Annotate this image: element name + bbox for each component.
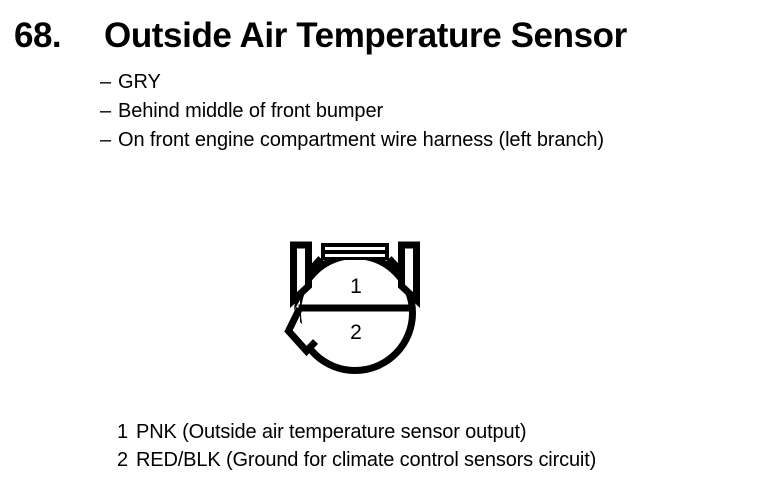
spec-list-item: – On front engine compartment wire harne… bbox=[100, 126, 760, 155]
right-side-post bbox=[402, 245, 417, 300]
legend-row: 1 PNK (Outside air temperature sensor ou… bbox=[117, 418, 757, 446]
left-side-post bbox=[294, 245, 309, 300]
spec-list-item: – Behind middle of front bumper bbox=[100, 97, 760, 126]
spec-item-text: On front engine compartment wire harness… bbox=[118, 129, 604, 151]
latch-slot bbox=[325, 247, 385, 250]
spec-item-text: Behind middle of front bumper bbox=[118, 100, 383, 122]
connector-illustration bbox=[270, 228, 440, 383]
section-number: 68. bbox=[14, 16, 61, 56]
pin-number-2: 2 bbox=[344, 322, 368, 343]
spec-list-item: – GRY bbox=[100, 68, 760, 97]
latch-tab bbox=[321, 243, 389, 260]
latch-slot bbox=[325, 254, 385, 257]
spec-item-text: GRY bbox=[118, 71, 161, 93]
legend-pin-description: RED/BLK (Ground for climate control sens… bbox=[136, 446, 596, 474]
dash-bullet-icon: – bbox=[100, 68, 111, 97]
page-header: 68. Outside Air Temperature Sensor bbox=[0, 0, 768, 62]
dash-bullet-icon: – bbox=[100, 97, 111, 126]
legend-row: 2 RED/BLK (Ground for climate control se… bbox=[117, 446, 757, 474]
pin-number-1: 1 bbox=[344, 276, 368, 297]
connector-circle bbox=[298, 256, 413, 371]
legend-pin-description: PNK (Outside air temperature sensor outp… bbox=[136, 418, 526, 446]
legend-pin-number: 2 bbox=[117, 446, 129, 474]
specification-list: – GRY – Behind middle of front bumper – … bbox=[100, 68, 760, 155]
legend-pin-number: 1 bbox=[117, 418, 129, 446]
dash-bullet-icon: – bbox=[100, 126, 111, 155]
connector-diagram: 1 2 bbox=[270, 228, 440, 383]
pin-legend: 1 PNK (Outside air temperature sensor ou… bbox=[117, 418, 757, 474]
page-title: Outside Air Temperature Sensor bbox=[104, 16, 627, 56]
